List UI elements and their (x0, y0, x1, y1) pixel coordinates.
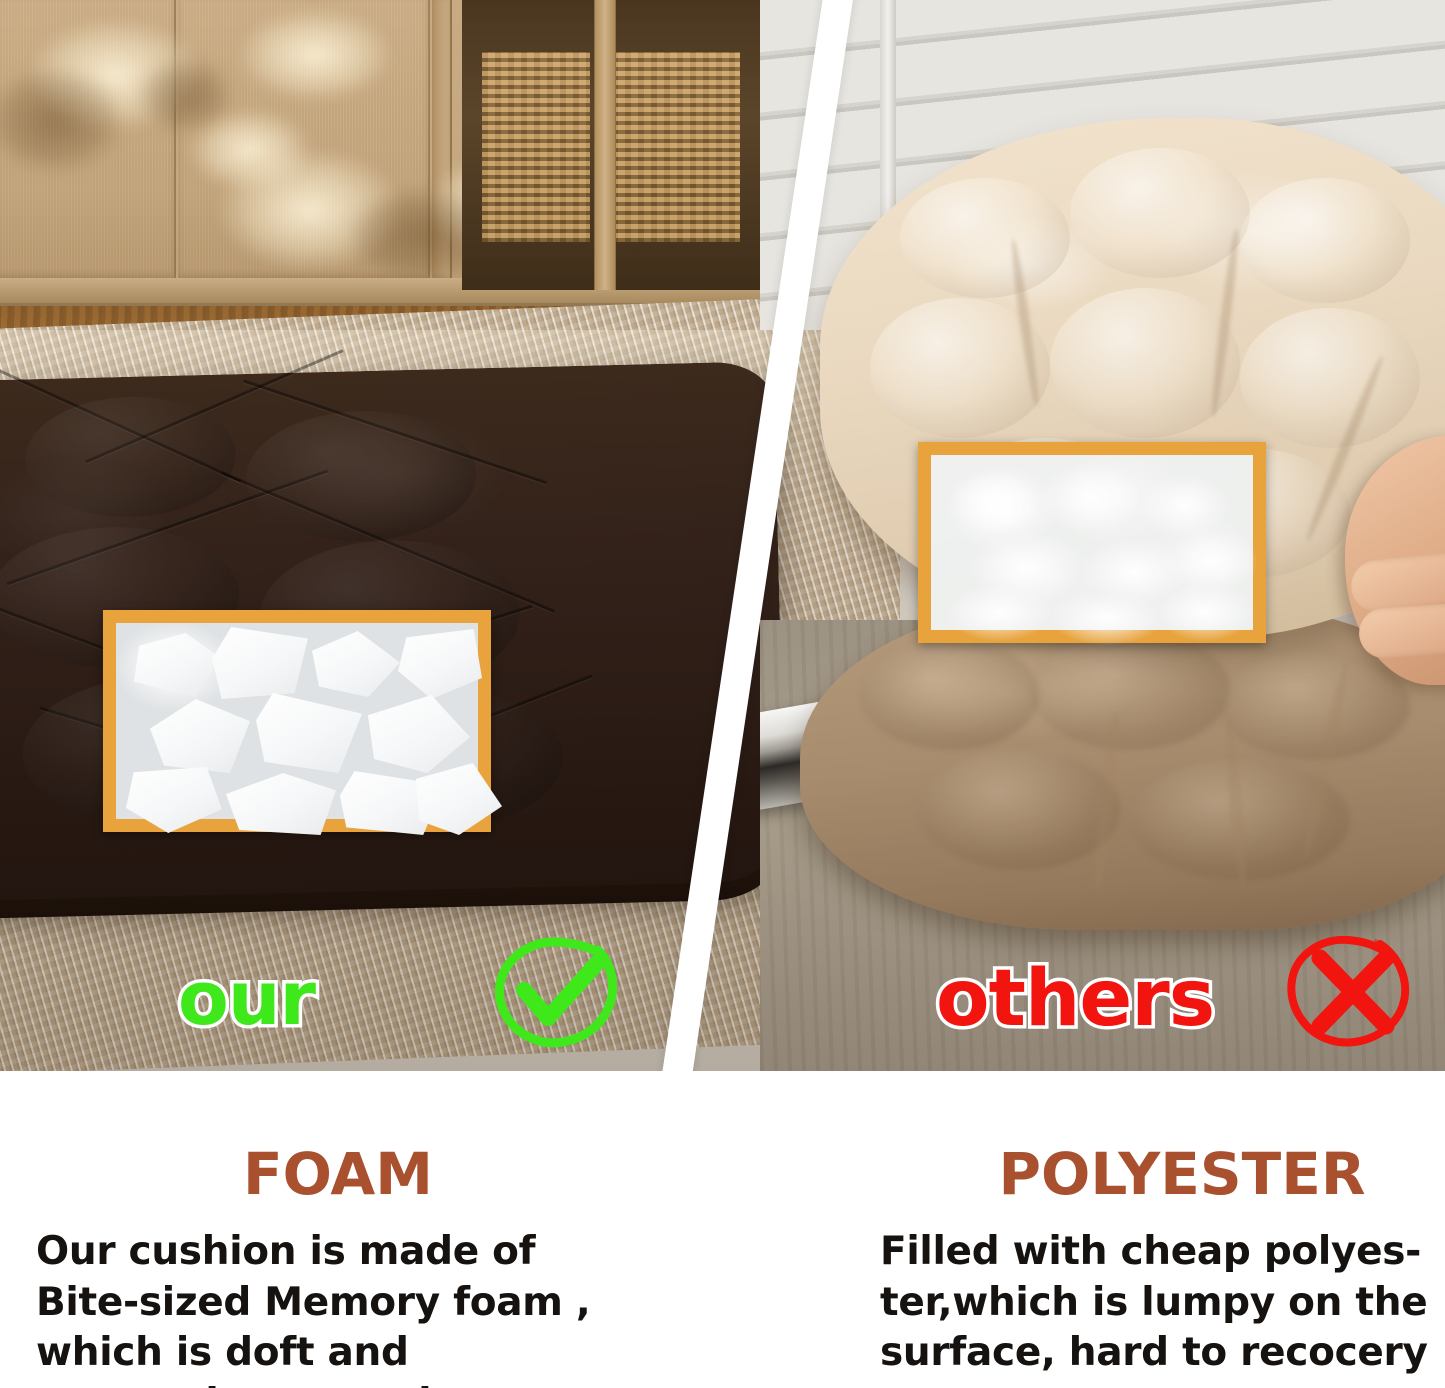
label-others: others (936, 960, 1214, 1038)
photo-comparison-area: our others (0, 0, 1445, 1071)
tan-lumpy-cushion (800, 600, 1445, 930)
foam-description: Our cushion is made of Bite-sized Memory… (28, 1203, 648, 1388)
product-comparison-image: our others (0, 0, 1445, 1388)
foam-title: FOAM (28, 1071, 648, 1203)
label-our: our (178, 962, 315, 1036)
green-check-circle-icon (486, 928, 628, 1056)
foam-closeup-inset (103, 610, 491, 832)
polyester-closeup-inset (918, 442, 1266, 643)
polyester-fiber-image (931, 455, 1253, 630)
woven-basket-1 (482, 52, 590, 242)
foam-chunks-image (116, 623, 478, 819)
polyester-description: Filled with cheap polyes-ter,which is lu… (872, 1203, 1445, 1379)
text-column-foam: FOAM Our cushion is made of Bite-sized M… (28, 1071, 648, 1388)
comparison-text-area: FOAM Our cushion is made of Bite-sized M… (0, 1071, 1445, 1388)
polyester-title: POLYESTER (872, 1071, 1445, 1203)
woven-basket-2 (612, 52, 740, 242)
cabinet-open-shelf (462, 0, 762, 290)
shelf-divider (594, 0, 616, 290)
red-x-circle-icon (1276, 928, 1426, 1058)
photo-right-others-cushion (760, 0, 1445, 1071)
text-column-polyester: POLYESTER Filled with cheap polyes-ter,w… (872, 1071, 1445, 1379)
